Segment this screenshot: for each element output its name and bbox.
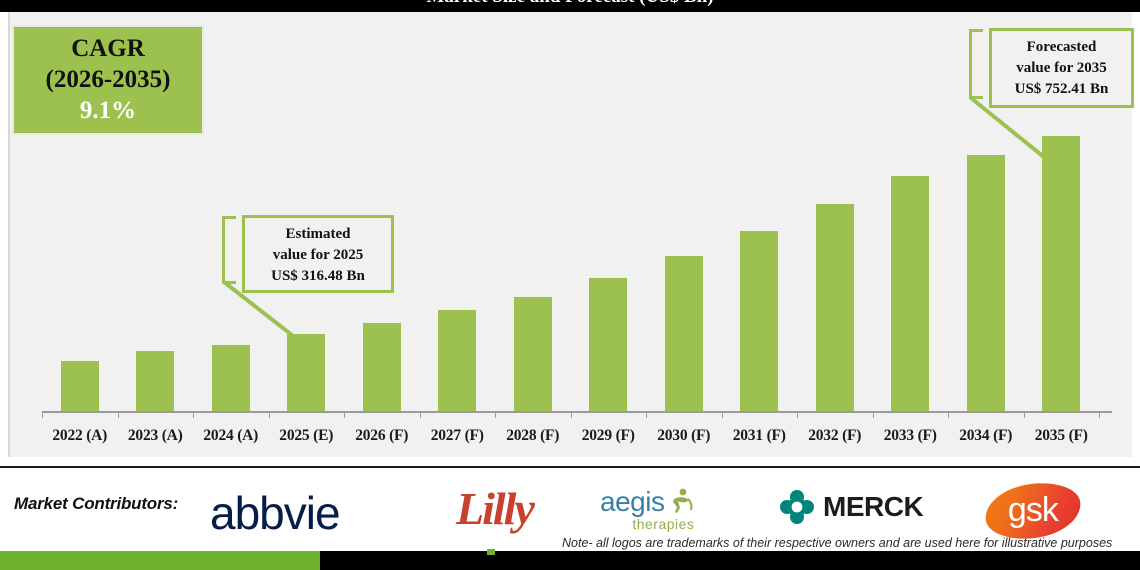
x-axis-label: 2025 (E) [269, 421, 345, 455]
market-contributors-label: Market Contributors: [14, 494, 178, 514]
x-axis-tick [269, 411, 270, 418]
gsk-oval-shape: gsk [982, 478, 1085, 545]
x-axis-tick [571, 411, 572, 418]
x-axis-tick [948, 411, 949, 418]
chart-infographic: Market Size and Forecast (US$ Bn) 2022 (… [0, 0, 1140, 570]
merck-logo: MERCK [780, 490, 923, 524]
forecasted-callout: Forecasted value for 2035 US$ 752.41 Bn [989, 28, 1134, 108]
bar-2022 [61, 361, 99, 411]
cagr-badge: CAGR (2026-2035) 9.1% [14, 27, 202, 133]
x-axis-label: 2024 (A) [193, 421, 269, 455]
x-axis-label: 2030 (F) [646, 421, 722, 455]
x-axis-tick [193, 411, 194, 418]
forecasted-callout-line-3: US$ 752.41 Bn [1000, 79, 1123, 100]
x-axis-tick [118, 411, 119, 418]
estimated-callout-line-1: Estimated [253, 224, 383, 245]
bar-2035 [1042, 136, 1080, 411]
lilly-logo: Lilly [456, 482, 533, 535]
bar-2029 [589, 278, 627, 411]
aegis-figure-icon [668, 486, 694, 516]
logo-disclaimer-note: Note- all logos are trademarks of their … [562, 536, 1112, 550]
aegis-logo-text: aegis [600, 488, 664, 516]
gsk-logo-text: gsk [1008, 491, 1058, 530]
forecasted-callout-line-2: value for 2035 [1000, 58, 1123, 79]
chart-panel: 2022 (A)2023 (A)2024 (A)2025 (E)2026 (F)… [8, 12, 1132, 457]
bar-2032 [816, 204, 854, 411]
market-contributors-strip: Market Contributors: abbvie Lilly aegis … [0, 466, 1140, 550]
x-axis-label: 2023 (A) [118, 421, 194, 455]
cagr-line-1: CAGR [14, 33, 202, 64]
bottom-accent-mark [487, 549, 495, 555]
bar-2024 [212, 345, 250, 411]
x-axis-tick [722, 411, 723, 418]
x-axis-tick [495, 411, 496, 418]
bottom-accent-bar-green [0, 551, 320, 570]
bar-2023 [136, 351, 174, 411]
merck-cross-icon [780, 490, 814, 524]
x-axis-label: 2028 (F) [495, 421, 571, 455]
bar-2030 [665, 256, 703, 411]
forecasted-callout-bracket [969, 29, 983, 99]
x-axis-label: 2035 (F) [1024, 421, 1100, 455]
estimated-callout-line-2: value for 2025 [253, 245, 383, 266]
x-axis-label: 2034 (F) [948, 421, 1024, 455]
x-axis-tick [1099, 411, 1100, 418]
aegis-therapies-logo: aegis therapies [600, 488, 694, 532]
x-axis-tick [42, 411, 43, 418]
estimated-callout-bracket [222, 216, 236, 284]
cagr-line-2: (2026-2035) [14, 64, 202, 95]
x-axis-tick [1024, 411, 1025, 418]
x-axis-label: 2029 (F) [571, 421, 647, 455]
x-axis-tick [797, 411, 798, 418]
aegis-logo-subtext: therapies [600, 516, 694, 532]
x-axis-labels: 2022 (A)2023 (A)2024 (A)2025 (E)2026 (F)… [10, 421, 1134, 455]
estimated-callout-line-3: US$ 316.48 Bn [253, 266, 383, 287]
abbvie-logo: abbvie [210, 486, 340, 540]
estimated-callout: Estimated value for 2025 US$ 316.48 Bn [242, 215, 394, 293]
forecasted-callout-line-1: Forecasted [1000, 37, 1123, 58]
gsk-logo: gsk [985, 484, 1081, 538]
bar-2027 [438, 310, 476, 411]
bar-2028 [514, 297, 552, 411]
cagr-value: 9.1% [14, 95, 202, 127]
x-axis-label: 2022 (A) [42, 421, 118, 455]
bar-2034 [967, 155, 1005, 411]
page-title: Market Size and Forecast (US$ Bn) [0, 0, 1140, 8]
bar-2026 [363, 323, 401, 411]
x-axis-label: 2032 (F) [797, 421, 873, 455]
x-axis-tick [873, 411, 874, 418]
merck-logo-text: MERCK [823, 491, 923, 523]
bar-2033 [891, 176, 929, 411]
x-axis-label: 2026 (F) [344, 421, 420, 455]
x-axis-line [42, 411, 1112, 413]
x-axis-label: 2033 (F) [873, 421, 949, 455]
x-axis-label: 2027 (F) [420, 421, 496, 455]
x-axis-tick [420, 411, 421, 418]
x-axis-tick [344, 411, 345, 418]
bar-2025 [287, 334, 325, 411]
bar-2031 [740, 231, 778, 411]
bottom-accent-bar-black [320, 551, 1140, 570]
title-bar: Market Size and Forecast (US$ Bn) [0, 0, 1140, 12]
x-axis-label: 2031 (F) [722, 421, 798, 455]
x-axis-tick [646, 411, 647, 418]
